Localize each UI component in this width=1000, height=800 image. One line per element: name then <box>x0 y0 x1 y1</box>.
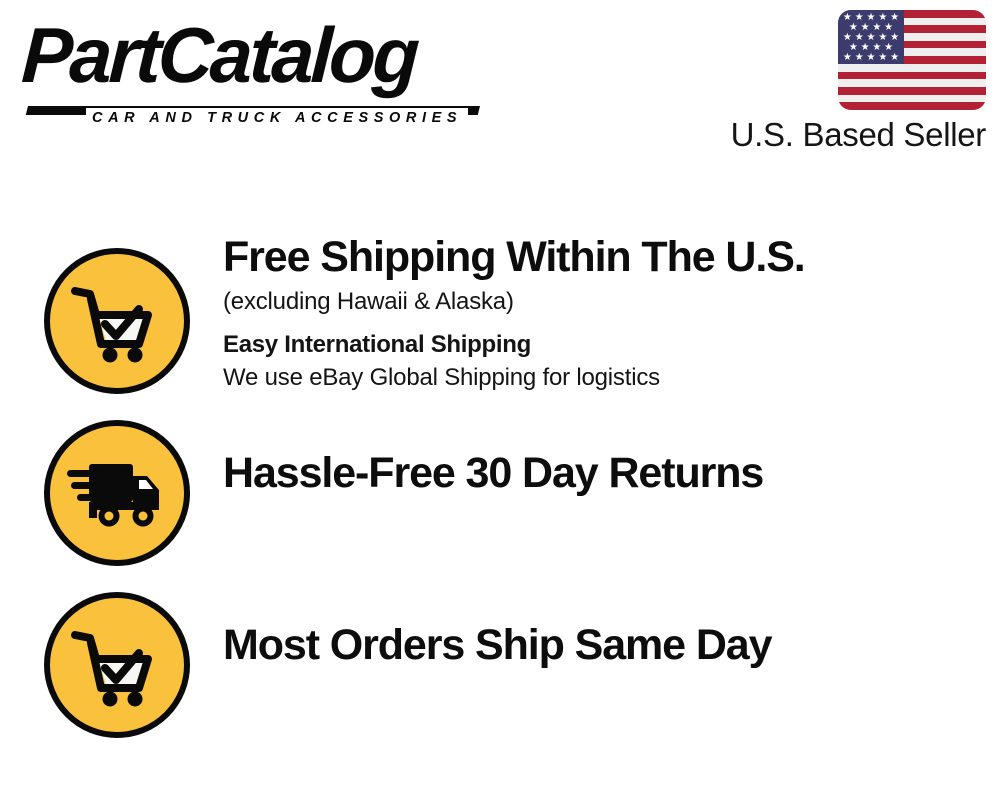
flag-stripe <box>838 64 986 72</box>
flag-stripe <box>838 87 986 95</box>
feature-subtext: We use eBay Global Shipping for logistic… <box>223 362 1000 394</box>
feature-row: Most Orders Ship Same Day <box>0 576 1000 748</box>
star-icon: ★ <box>878 53 887 63</box>
feature-text-block: Most Orders Ship Same Day <box>223 576 1000 668</box>
seller-label: U.S. Based Seller <box>714 117 986 153</box>
flag-stripe <box>838 72 986 80</box>
delivery-truck-icon <box>44 420 190 566</box>
feature-heading: Hassle-Free 30 Day Returns <box>223 450 1000 496</box>
us-based-seller-badge: ★ ★ ★ ★ ★ ★ ★ ★ ★ ★ ★ ★ ★ ★ <box>714 10 986 153</box>
shopping-cart-check-icon <box>44 248 190 394</box>
brand-logo: PartCatalog CAR AND TRUCK ACCESSORIES <box>24 22 494 117</box>
flag-stripe <box>838 79 986 87</box>
feature-text-block: Free Shipping Within The U.S. (excluding… <box>223 232 1000 395</box>
feature-heading: Free Shipping Within The U.S. <box>223 234 1000 280</box>
brand-tagline: CAR AND TRUCK ACCESSORIES <box>86 108 468 128</box>
flag-stripe <box>838 95 986 103</box>
star-icon: ★ <box>843 53 852 63</box>
star-icon: ★ <box>890 53 899 63</box>
shopping-cart-check-icon <box>44 592 190 738</box>
brand-wordmark: PartCatalog <box>20 16 419 94</box>
page-header: PartCatalog CAR AND TRUCK ACCESSORIES <box>0 0 1000 175</box>
us-flag-icon: ★ ★ ★ ★ ★ ★ ★ ★ ★ ★ ★ ★ ★ ★ <box>838 10 986 110</box>
star-icon: ★ <box>855 53 864 63</box>
feature-heading: Most Orders Ship Same Day <box>223 622 1000 668</box>
flag-stripe <box>838 102 986 110</box>
feature-row: Free Shipping Within The U.S. (excluding… <box>0 232 1000 404</box>
feature-text-block: Hassle-Free 30 Day Returns <box>223 404 1000 496</box>
feature-list: Free Shipping Within The U.S. (excluding… <box>0 232 1000 748</box>
flag-canton: ★ ★ ★ ★ ★ ★ ★ ★ ★ ★ ★ ★ ★ ★ <box>838 10 904 64</box>
star-icon: ★ <box>867 53 876 63</box>
feature-subtext-bold: Easy International Shipping <box>223 329 1000 361</box>
feature-row: Hassle-Free 30 Day Returns <box>0 404 1000 576</box>
feature-subtext: (excluding Hawaii & Alaska) <box>223 286 1000 318</box>
flag-star-row: ★ ★ ★ ★ ★ <box>840 53 902 63</box>
